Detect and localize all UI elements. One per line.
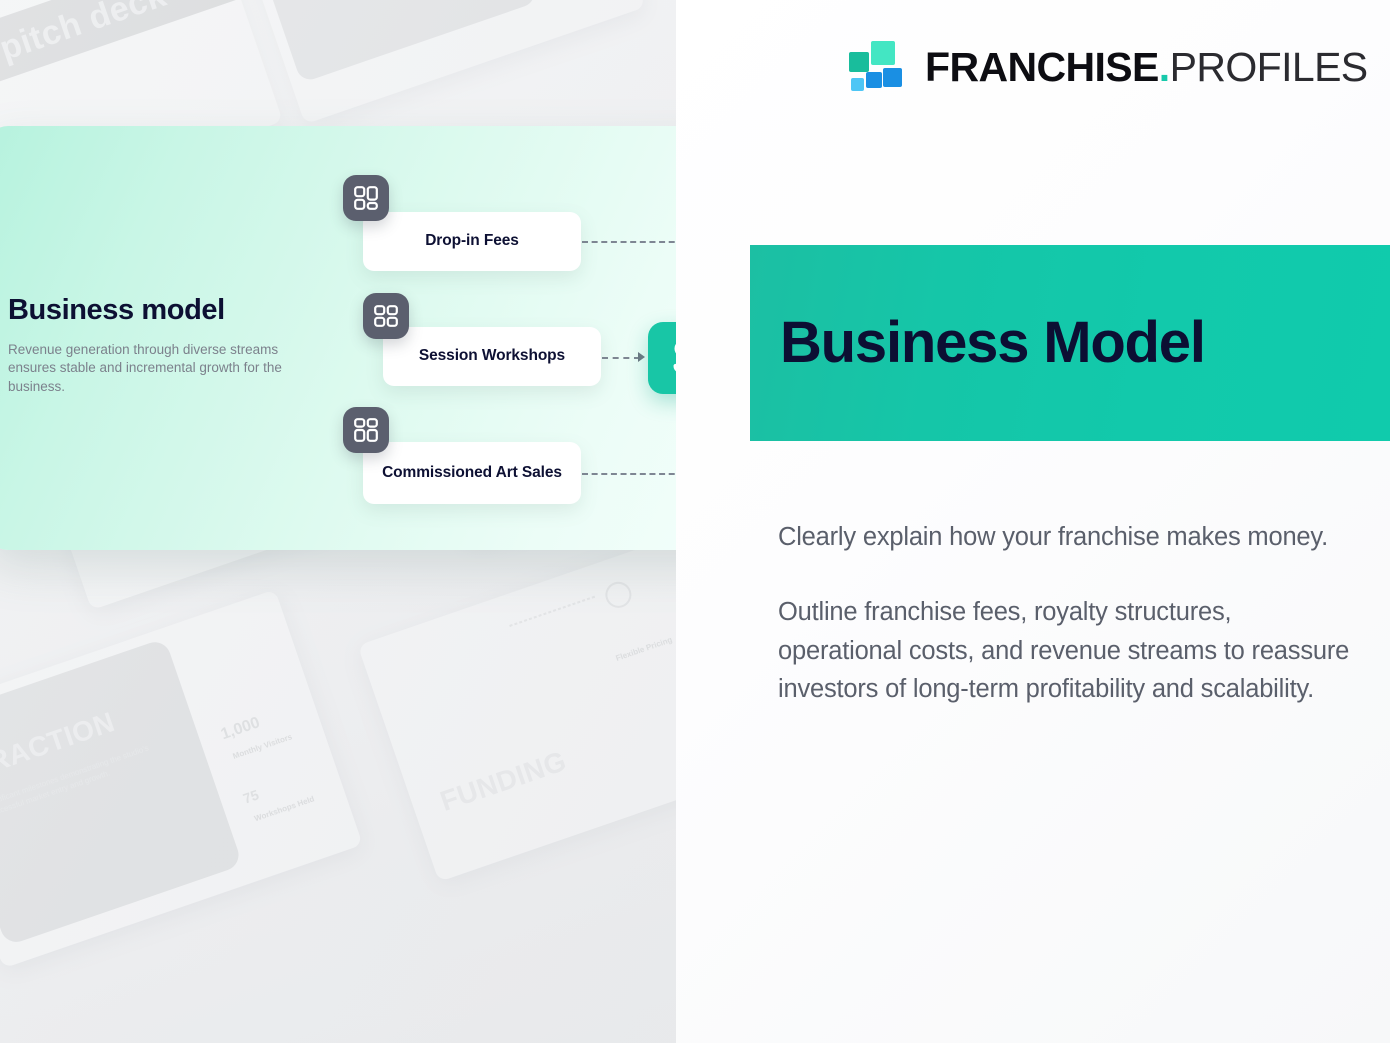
card-description: Revenue generation through diverse strea… <box>8 341 308 396</box>
revenue-node-label: Commissioned Art Sales <box>370 464 574 482</box>
logo-square-5 <box>851 78 864 91</box>
grid-icon <box>343 175 389 221</box>
backdrop-panel <box>236 0 537 83</box>
backdrop-slide-label: Workshops Held <box>253 794 315 823</box>
brand-separator: . <box>1159 44 1170 90</box>
brand-logo: FRANCHISE.PROFILES <box>847 39 1368 95</box>
body-copy: Clearly explain how your franchise makes… <box>778 518 1358 709</box>
franchise-profiles-mark-icon <box>847 39 907 95</box>
connector-middle-horizontal <box>602 357 640 359</box>
brand-wordmark: FRANCHISE.PROFILES <box>925 47 1368 88</box>
logo-square-4 <box>866 72 882 88</box>
backdrop-slide-funding: FUNDING Flexible Pricing <box>358 528 676 882</box>
logo-square-2 <box>849 52 869 72</box>
brand-name-bold: FRANCHISE <box>925 44 1159 90</box>
body-paragraph-2: Outline franchise fees, royalty structur… <box>778 593 1358 709</box>
slide-canvas: MARKET spaces in urban and suburban area… <box>0 0 1390 1043</box>
card-text-block: Business model Revenue generation throug… <box>8 294 308 396</box>
backdrop-dash <box>509 596 595 627</box>
grid-icon <box>343 407 389 453</box>
backdrop-slide-label: Flexible Pricing <box>615 635 675 663</box>
logo-square-1 <box>871 41 895 65</box>
revenue-node-drop-in-fees[interactable]: Drop-in Fees <box>363 212 581 271</box>
backdrop-icon <box>602 578 635 611</box>
revenue-node-label: Drop-in Fees <box>413 232 531 250</box>
logo-square-3 <box>883 68 902 87</box>
card-heading: Business model <box>8 294 308 327</box>
right-content-panel: FRANCHISE.PROFILES Business Model Clearl… <box>676 0 1390 1043</box>
page-title: Business Model <box>780 314 1205 372</box>
backdrop-stat: 75 <box>241 786 261 806</box>
backdrop-slide-traction: TRACTION Significant milestones demonstr… <box>0 589 363 968</box>
business-model-preview-card: Business model Revenue generation throug… <box>0 126 745 550</box>
backdrop-slide-problem: THE PROBLEM Many local artists and commu… <box>224 0 646 124</box>
revenue-node-label: Session Workshops <box>407 347 577 365</box>
revenue-node-session-workshops[interactable]: Session Workshops <box>383 327 601 386</box>
body-paragraph-1: Clearly explain how your franchise makes… <box>778 518 1358 557</box>
backdrop-slide-title: FUNDING <box>436 745 570 817</box>
grid-icon <box>363 293 409 339</box>
brand-name-light: PROFILES <box>1170 44 1368 90</box>
revenue-node-commissioned-art-sales[interactable]: Commissioned Art Sales <box>363 442 581 504</box>
section-title-band: Business Model <box>750 245 1390 441</box>
backdrop-stat: 1,000 <box>219 714 263 744</box>
connector-middle-arrowhead <box>638 352 645 362</box>
